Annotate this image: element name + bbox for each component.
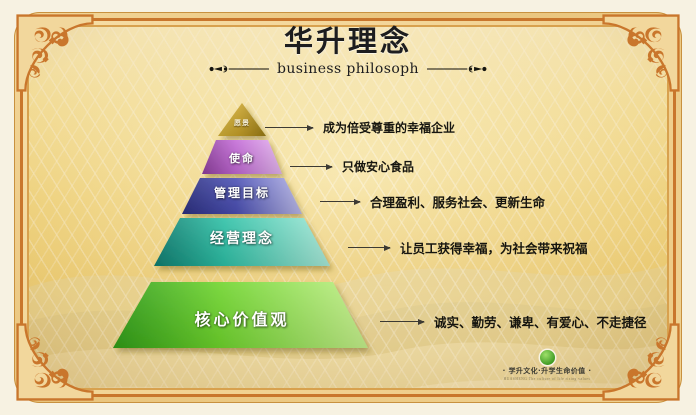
arrow-icon <box>380 317 424 327</box>
description-text-2: 合理盈利、服务社会、更新生命 <box>370 192 545 211</box>
description-row-4: 诚实、勤劳、谦卑、有爱心、不走捷径 <box>380 312 647 331</box>
subtitle-row: business philosoph <box>0 61 696 77</box>
logo-tagline-cn: · 学升文化·升学生命价值 · <box>494 366 600 376</box>
description-text-0: 成为倍受尊重的幸福企业 <box>323 119 455 136</box>
description-text-3: 让员工获得幸福，为社会带来祝福 <box>400 238 588 257</box>
logo-tagline-en: HUASHENG The culture of life rising valu… <box>494 377 600 381</box>
flourish-left-icon <box>208 63 270 75</box>
description-text-1: 只做安心食品 <box>342 158 414 175</box>
title-block: 华升理念 business philosoph <box>0 26 696 77</box>
page-title: 华升理念 <box>0 26 696 56</box>
description-row-3: 让员工获得幸福，为社会带来祝福 <box>348 238 588 257</box>
description-text-4: 诚实、勤劳、谦卑、有爱心、不走捷径 <box>434 312 647 331</box>
description-row-1: 只做安心食品 <box>290 158 414 175</box>
pyramid-label-3: 经营理念 <box>128 228 356 248</box>
pyramid-label-2: 管理目标 <box>158 184 326 201</box>
arrow-icon <box>290 162 332 172</box>
poster-canvas: 华升理念 business philosoph <box>0 0 696 415</box>
flourish-right-icon <box>426 63 488 75</box>
arrow-icon <box>348 243 390 253</box>
corner-ornament-icon <box>602 323 680 401</box>
description-row-2: 合理盈利、服务社会、更新生命 <box>320 192 545 211</box>
brand-logo: · 学升文化·升学生命价值 · HUASHENG The culture of … <box>494 350 600 381</box>
arrow-icon <box>265 123 313 133</box>
leaf-circle-icon <box>540 350 555 365</box>
pyramid-label-1: 使命 <box>186 150 298 166</box>
page-subtitle: business philosoph <box>277 61 419 77</box>
description-row-0: 成为倍受尊重的幸福企业 <box>265 119 455 136</box>
pyramid-label-4: 核心价值观 <box>106 306 378 330</box>
arrow-icon <box>320 197 360 207</box>
corner-ornament-icon <box>16 323 94 401</box>
